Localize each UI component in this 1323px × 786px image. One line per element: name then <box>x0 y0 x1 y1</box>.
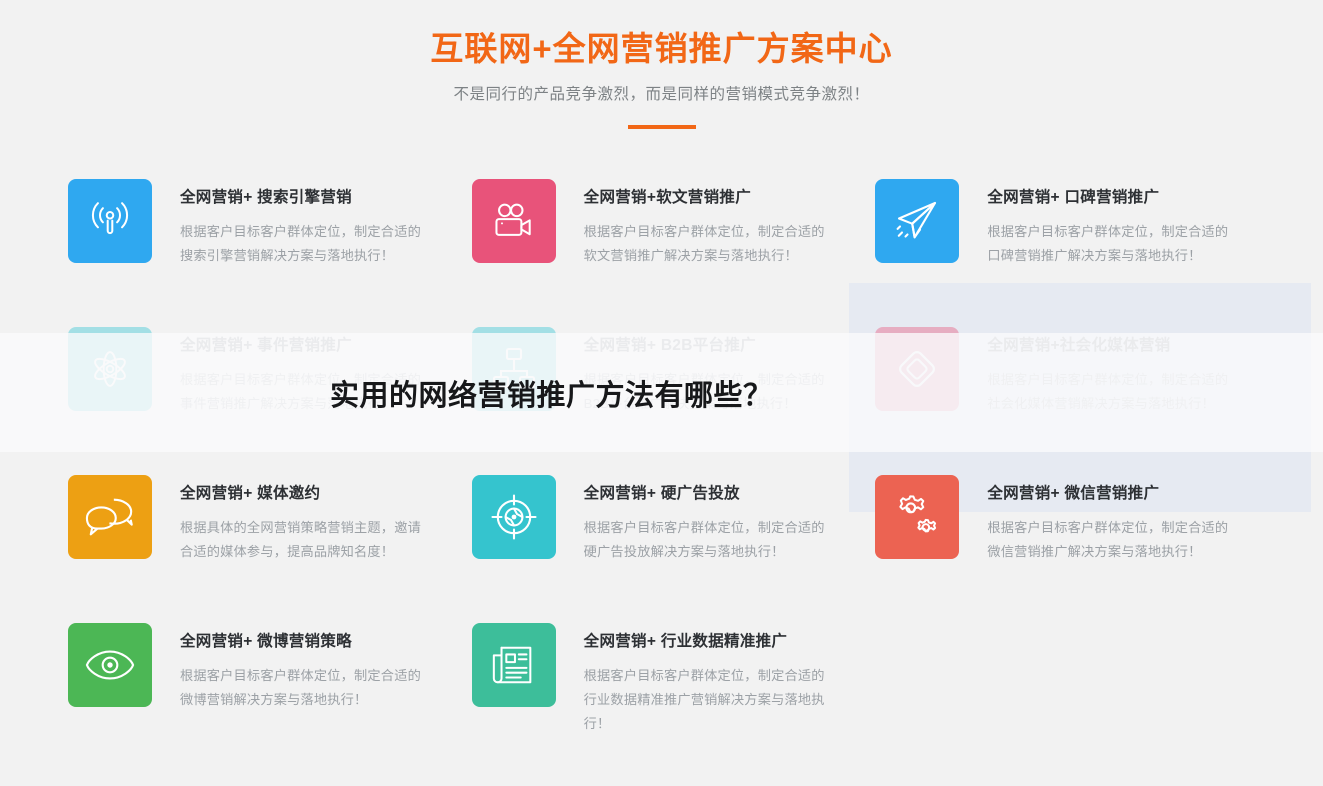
service-card-body: 全网营销+ 口碑营销推广根据客户目标客户群体定位，制定合适的口碑营销推广解决方案… <box>959 179 1235 268</box>
service-card-description: 根据客户目标客户群体定位，制定合适的口碑营销推广解决方案与落地执行！ <box>987 220 1235 268</box>
accent-divider <box>628 125 696 129</box>
service-card[interactable]: 全网营销+软文营销推广根据客户目标客户群体定位，制定合适的软文营销推广解决方案与… <box>460 169 864 317</box>
service-card-body: 全网营销+ 硬广告投放根据客户目标客户群体定位，制定合适的硬广告投放解决方案与落… <box>556 475 832 564</box>
service-card-description: 根据客户目标客户群体定位，制定合适的搜索引擎营销解决方案与落地执行！ <box>180 220 428 268</box>
target-icon <box>472 475 556 559</box>
service-card-body: 全网营销+软文营销推广根据客户目标客户群体定位，制定合适的软文营销推广解决方案与… <box>556 179 832 268</box>
service-card-grid: 全网营销+ 搜索引擎营销根据客户目标客户群体定位，制定合适的搜索引擎营销解决方案… <box>0 169 1323 761</box>
service-card-body: 全网营销+ 微博营销策略根据客户目标客户群体定位，制定合适的微博营销解决方案与落… <box>152 623 428 712</box>
service-card-title: 全网营销+ 微信营销推广 <box>987 483 1235 505</box>
service-card-description: 根据客户目标客户群体定位，制定合适的硬广告投放解决方案与落地执行！ <box>584 516 832 564</box>
paper-plane-icon <box>875 179 959 263</box>
service-card-title: 全网营销+ 口碑营销推广 <box>987 187 1235 209</box>
service-card[interactable]: 全网营销+ 搜索引擎营销根据客户目标客户群体定位，制定合适的搜索引擎营销解决方案… <box>56 169 460 317</box>
service-card-description: 根据客户目标客户群体定位，制定合适的微博营销解决方案与落地执行！ <box>180 664 428 712</box>
page-title: 互联网+全网营销推广方案中心 <box>0 26 1323 72</box>
overlay-headline: 实用的网络营销推广方法有哪些？ <box>0 372 1323 414</box>
service-card-title: 全网营销+ 行业数据精准推广 <box>584 631 832 653</box>
service-card-title: 全网营销+ 搜索引擎营销 <box>180 187 428 209</box>
service-card-body: 全网营销+ 行业数据精准推广根据客户目标客户群体定位，制定合适的行业数据精准推广… <box>556 623 832 736</box>
service-card-title: 全网营销+社会化媒体营销 <box>987 335 1235 357</box>
service-card-title: 全网营销+软文营销推广 <box>584 187 832 209</box>
newspaper-icon <box>472 623 556 707</box>
service-card[interactable]: 全网营销+ 媒体邀约根据具体的全网营销策略营销主题，邀请合适的媒体参与，提高品牌… <box>56 465 460 613</box>
service-card-body: 全网营销+ 搜索引擎营销根据客户目标客户群体定位，制定合适的搜索引擎营销解决方案… <box>152 179 428 268</box>
service-card-title: 全网营销+ 微博营销策略 <box>180 631 428 653</box>
service-card-body: 全网营销+ 微信营销推广根据客户目标客户群体定位，制定合适的微信营销推广解决方案… <box>959 475 1235 564</box>
chat-bubbles-icon <box>68 475 152 559</box>
service-card[interactable]: 全网营销+ 行业数据精准推广根据客户目标客户群体定位，制定合适的行业数据精准推广… <box>460 613 864 761</box>
service-card-description: 根据客户目标客户群体定位，制定合适的微信营销推广解决方案与落地执行！ <box>987 516 1235 564</box>
service-card-description: 根据客户目标客户群体定位，制定合适的软文营销推广解决方案与落地执行！ <box>584 220 832 268</box>
broadcast-icon <box>68 179 152 263</box>
service-card-title: 全网营销+ 事件营销推广 <box>180 335 428 357</box>
eye-icon <box>68 623 152 707</box>
video-camera-icon <box>472 179 556 263</box>
page-subtitle: 不是同行的产品竞争激烈，而是同样的营销模式竞争激烈！ <box>0 83 1323 107</box>
gears-icon <box>875 475 959 559</box>
service-card-title: 全网营销+ 硬广告投放 <box>584 483 832 505</box>
service-card-title: 全网营销+ B2B平台推广 <box>584 335 832 357</box>
service-card[interactable]: 全网营销+ 硬广告投放根据客户目标客户群体定位，制定合适的硬广告投放解决方案与落… <box>460 465 864 613</box>
page-root: 互联网+全网营销推广方案中心 不是同行的产品竞争激烈，而是同样的营销模式竞争激烈… <box>0 0 1323 786</box>
service-card-body: 全网营销+ 媒体邀约根据具体的全网营销策略营销主题，邀请合适的媒体参与，提高品牌… <box>152 475 428 564</box>
service-card[interactable]: 全网营销+ 微信营销推广根据客户目标客户群体定位，制定合适的微信营销推广解决方案… <box>863 465 1267 613</box>
service-card-title: 全网营销+ 媒体邀约 <box>180 483 428 505</box>
service-card-description: 根据客户目标客户群体定位，制定合适的行业数据精准推广营销解决方案与落地执行！ <box>584 664 832 736</box>
service-card[interactable]: 全网营销+ 微博营销策略根据客户目标客户群体定位，制定合适的微博营销解决方案与落… <box>56 613 460 761</box>
service-card-description: 根据具体的全网营销策略营销主题，邀请合适的媒体参与，提高品牌知名度！ <box>180 516 428 564</box>
page-header: 互联网+全网营销推广方案中心 不是同行的产品竞争激烈，而是同样的营销模式竞争激烈… <box>0 0 1323 129</box>
